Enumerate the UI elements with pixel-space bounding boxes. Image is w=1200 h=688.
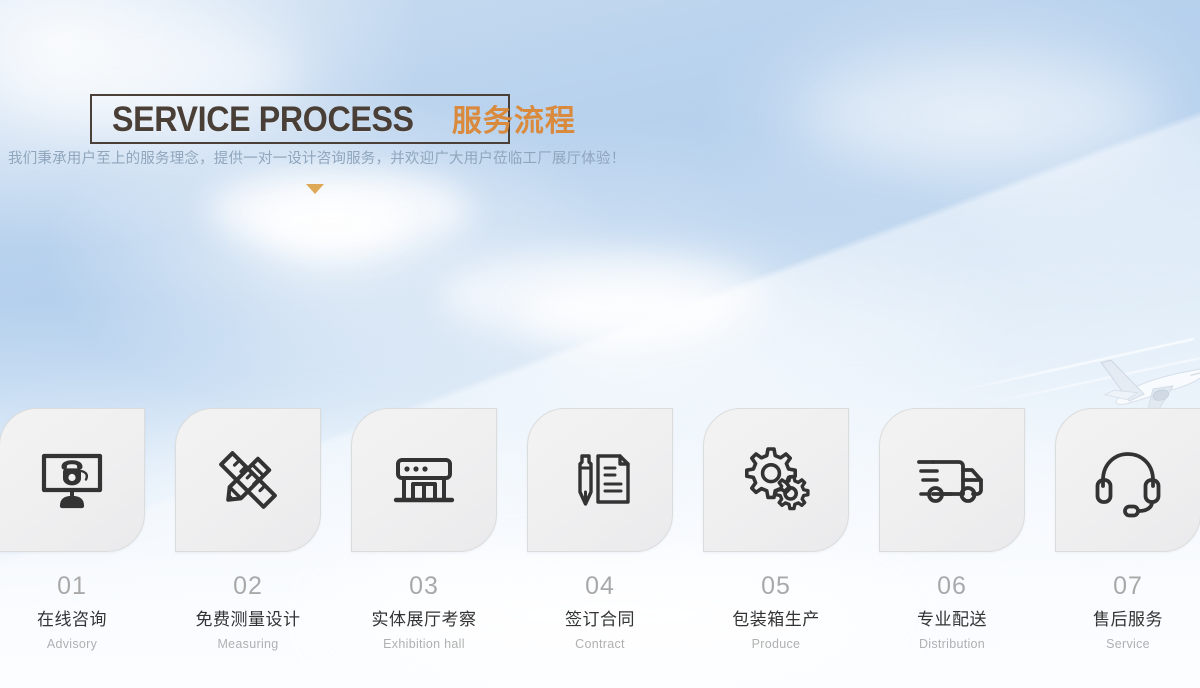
- step-icon-card[interactable]: [175, 408, 321, 552]
- delivery-truck-icon: [911, 442, 993, 518]
- step-label-en: Produce: [703, 638, 849, 651]
- monitor-phone-icon: [34, 442, 110, 518]
- step-label-cn: 包装箱生产: [703, 611, 849, 628]
- step-number: 02: [175, 574, 321, 599]
- section-subtitle: 我们秉承用户至上的服务理念，提供一对一设计咨询服务，并欢迎广大用户莅临工厂展厅体…: [8, 147, 625, 168]
- step-label-en: Exhibition hall: [351, 638, 497, 651]
- step-number: 04: [527, 574, 673, 599]
- page-title: SERVICE PROCESS 服务流程: [112, 102, 576, 137]
- step-label-en: Service: [1055, 638, 1200, 651]
- step-label-en: Measuring: [175, 638, 321, 651]
- title-chinese: 服务流程: [452, 107, 576, 137]
- step-number: 06: [879, 574, 1025, 599]
- service-process-steps: 01 在线咨询 Advisory: [0, 408, 1199, 651]
- step-label-cn: 免费测量设计: [175, 611, 321, 628]
- step-item[interactable]: 06 专业配送 Distribution: [879, 408, 1025, 651]
- page-stage: SERVICE PROCESS 服务流程 我们秉承用户至上的服务理念，提供一对一…: [0, 0, 1200, 688]
- step-item[interactable]: 02 免费测量设计 Measuring: [175, 408, 321, 651]
- step-item[interactable]: 03 实体展厅考察 Exhibition hall: [351, 408, 497, 651]
- pen-document-icon: [562, 442, 638, 518]
- step-number: 05: [703, 574, 849, 599]
- step-label-cn: 在线咨询: [0, 611, 145, 628]
- step-item[interactable]: 05 包装箱生产 Produce: [703, 408, 849, 651]
- gears-icon: [737, 441, 815, 519]
- step-label-en: Advisory: [0, 638, 145, 651]
- step-label-en: Contract: [527, 638, 673, 651]
- step-icon-card[interactable]: [703, 408, 849, 552]
- title-english: SERVICE PROCESS: [112, 102, 414, 137]
- chevron-down-triangle-icon: [306, 184, 324, 194]
- ruler-pencil-icon: [210, 442, 286, 518]
- step-label-cn: 售后服务: [1055, 611, 1200, 628]
- step-icon-card[interactable]: [351, 408, 497, 552]
- step-icon-card[interactable]: [527, 408, 673, 552]
- step-label-cn: 签订合同: [527, 611, 673, 628]
- step-item[interactable]: 07 售后服务 Service: [1055, 408, 1200, 651]
- step-icon-card[interactable]: [0, 408, 145, 552]
- step-number: 07: [1055, 574, 1200, 599]
- step-number: 01: [0, 574, 145, 599]
- step-icon-card[interactable]: [1055, 408, 1200, 552]
- headset-icon: [1089, 442, 1167, 518]
- step-item[interactable]: 01 在线咨询 Advisory: [0, 408, 145, 651]
- step-label-cn: 实体展厅考察: [351, 611, 497, 628]
- step-label-en: Distribution: [879, 638, 1025, 651]
- step-item[interactable]: 04 签订合同 Contract: [527, 408, 673, 651]
- step-number: 03: [351, 574, 497, 599]
- storefront-icon: [386, 442, 462, 518]
- step-icon-card[interactable]: [879, 408, 1025, 552]
- step-label-cn: 专业配送: [879, 611, 1025, 628]
